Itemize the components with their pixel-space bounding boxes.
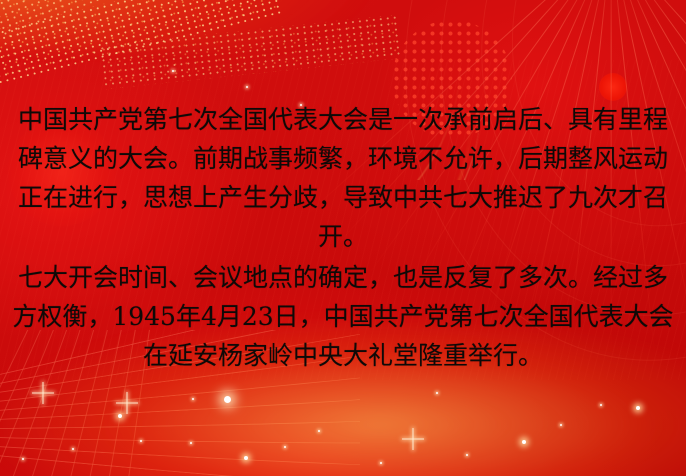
presentation-slide: 中国共产党第七次全国代表大会是一次承前启后、具有里程碑意义的大会。前期战事频繁，… — [0, 0, 686, 476]
body-paragraph-1: 中国共产党第七次全国代表大会是一次承前启后、具有里程碑意义的大会。前期战事频繁，… — [0, 100, 686, 256]
body-paragraph-2: 七大开会时间、会议地点的确定，也是反复了多次。经过多方权衡，1945年4月23日… — [0, 258, 686, 375]
slide-text-content: 中国共产党第七次全国代表大会是一次承前启后、具有里程碑意义的大会。前期战事频繁，… — [0, 0, 686, 476]
